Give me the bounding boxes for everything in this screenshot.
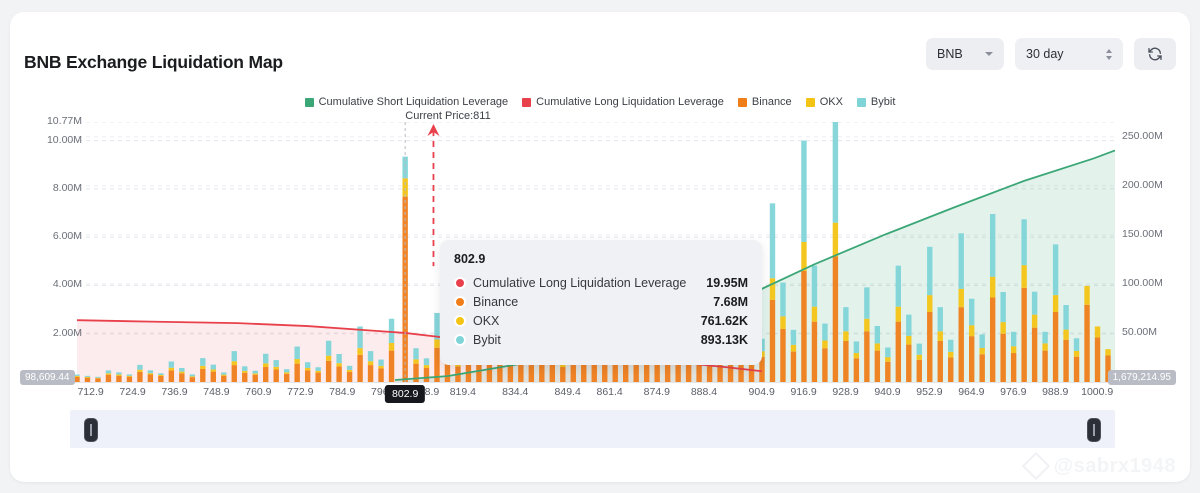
- tooltip-value: 761.62K: [701, 314, 748, 328]
- current-price-annotation: Current Price:811: [10, 110, 1190, 122]
- x-axis-tick: 874.9: [644, 386, 670, 398]
- page-title: BNB Exchange Liquidation Map: [24, 52, 283, 73]
- x-axis-tick: 928.9: [832, 386, 858, 398]
- coin-select[interactable]: BNB: [926, 38, 1004, 70]
- legend-label: Bybit: [871, 96, 895, 108]
- x-axis-tick: 819.4: [450, 386, 476, 398]
- x-axis-tick: 784.9: [329, 386, 355, 398]
- coin-select-value: BNB: [937, 47, 963, 61]
- tooltip-dot-icon: [454, 277, 466, 289]
- x-axis-tick: 988.9: [1042, 386, 1068, 398]
- legend-swatch-icon: [522, 98, 531, 107]
- header-controls: BNB 30 day: [926, 38, 1176, 70]
- x-axis-tick: 760.9: [245, 386, 271, 398]
- y-axis-right-tick: 50.00M: [1122, 326, 1157, 338]
- tooltip-row: Cumulative Long Liquidation Leverage19.9…: [454, 276, 748, 290]
- y-axis-right-tick: 100.00M: [1122, 277, 1163, 289]
- legend-item-0[interactable]: Cumulative Short Liquidation Leverage: [305, 96, 509, 108]
- x-axis-tick: 748.9: [203, 386, 229, 398]
- watermark: @sabrx1948: [1024, 454, 1176, 478]
- legend-label: Cumulative Long Liquidation Leverage: [536, 96, 724, 108]
- x-axis-tick: 1000.9: [1081, 386, 1113, 398]
- tooltip-label: Cumulative Long Liquidation Leverage: [473, 276, 706, 290]
- tooltip-value: 19.95M: [706, 276, 748, 290]
- legend-item-2[interactable]: Binance: [738, 96, 792, 108]
- tooltip-dot-icon: [454, 296, 466, 308]
- x-axis-tick: 940.9: [874, 386, 900, 398]
- refresh-button[interactable]: [1134, 38, 1176, 70]
- chart-legend: Cumulative Short Liquidation LeverageCum…: [10, 96, 1190, 110]
- right-axis-badge: 1,679,214.95: [1108, 370, 1176, 385]
- stepper-icon: [1106, 49, 1112, 60]
- chart-tooltip: 802.9 Cumulative Long Liquidation Levera…: [440, 240, 762, 365]
- tooltip-value: 7.68M: [713, 295, 748, 309]
- y-axis-left-tick: 6.00M: [53, 230, 82, 242]
- x-axis-tick: 976.9: [1000, 386, 1026, 398]
- legend-swatch-icon: [305, 98, 314, 107]
- range-select-value: 30 day: [1026, 47, 1064, 61]
- refresh-icon: [1147, 46, 1163, 62]
- tooltip-dot-icon: [454, 334, 466, 346]
- x-axis-tick: 736.9: [161, 386, 187, 398]
- legend-label: OKX: [820, 96, 843, 108]
- x-axis-tick: 904.9: [749, 386, 775, 398]
- tooltip-row: OKX761.62K: [454, 314, 748, 328]
- y-axis-left-tick: 10.00M: [47, 134, 82, 146]
- tooltip-row: Binance7.68M: [454, 295, 748, 309]
- tooltip-label: Binance: [473, 295, 713, 309]
- x-axis-tick: 849.4: [555, 386, 581, 398]
- tooltip-title: 802.9: [454, 252, 748, 266]
- tooltip-label: Bybit: [473, 333, 701, 347]
- y-axis-right-tick: 150.00M: [1122, 228, 1163, 240]
- legend-label: Binance: [752, 96, 792, 108]
- x-axis-highlight-badge: 802.9: [385, 385, 425, 403]
- range-select[interactable]: 30 day: [1015, 38, 1123, 70]
- x-axis-tick: 861.4: [596, 386, 622, 398]
- x-axis-tick: 964.9: [958, 386, 984, 398]
- y-axis-right-tick: 200.00M: [1122, 179, 1163, 191]
- y-axis-left-tick: 2.00M: [53, 327, 82, 339]
- legend-item-4[interactable]: Bybit: [857, 96, 895, 108]
- legend-item-3[interactable]: OKX: [806, 96, 843, 108]
- legend-swatch-icon: [857, 98, 866, 107]
- y-axis-left-tick: 8.00M: [53, 182, 82, 194]
- y-axis-left-tick: 4.00M: [53, 278, 82, 290]
- x-axis-tick: 772.9: [287, 386, 313, 398]
- tooltip-label: OKX: [473, 314, 701, 328]
- legend-item-1[interactable]: Cumulative Long Liquidation Leverage: [522, 96, 724, 108]
- x-axis-tick: 916.9: [790, 386, 816, 398]
- legend-label: Cumulative Short Liquidation Leverage: [319, 96, 509, 108]
- x-axis-line: [70, 382, 1115, 383]
- x-axis-tick: 952.9: [916, 386, 942, 398]
- liquidation-map-card: BNB Exchange Liquidation Map BNB 30 day …: [10, 12, 1190, 482]
- chevron-down-icon: [985, 52, 993, 56]
- x-axis-tick: 724.9: [119, 386, 145, 398]
- tooltip-value: 893.13K: [701, 333, 748, 347]
- tooltip-dot-icon: [454, 315, 466, 327]
- watermark-text: @sabrx1948: [1054, 455, 1176, 478]
- legend-swatch-icon: [738, 98, 747, 107]
- y-axis-right-tick: 250.00M: [1122, 130, 1163, 142]
- tooltip-row: Bybit893.13K: [454, 333, 748, 347]
- chart-brush[interactable]: [70, 410, 1115, 448]
- card-header: BNB Exchange Liquidation Map BNB 30 day: [10, 12, 1190, 94]
- x-axis-tick: 834.4: [502, 386, 528, 398]
- brush-handle-right[interactable]: [1087, 418, 1101, 442]
- diamond-logo-icon: [1024, 454, 1048, 478]
- y-axis-left-tick: 10.77M: [47, 115, 82, 127]
- legend-swatch-icon: [806, 98, 815, 107]
- x-axis-tick: 712.9: [77, 386, 103, 398]
- brush-handle-left[interactable]: [84, 418, 98, 442]
- x-axis-tick: 888.4: [691, 386, 717, 398]
- left-axis-badge: 98,609.44: [20, 370, 75, 385]
